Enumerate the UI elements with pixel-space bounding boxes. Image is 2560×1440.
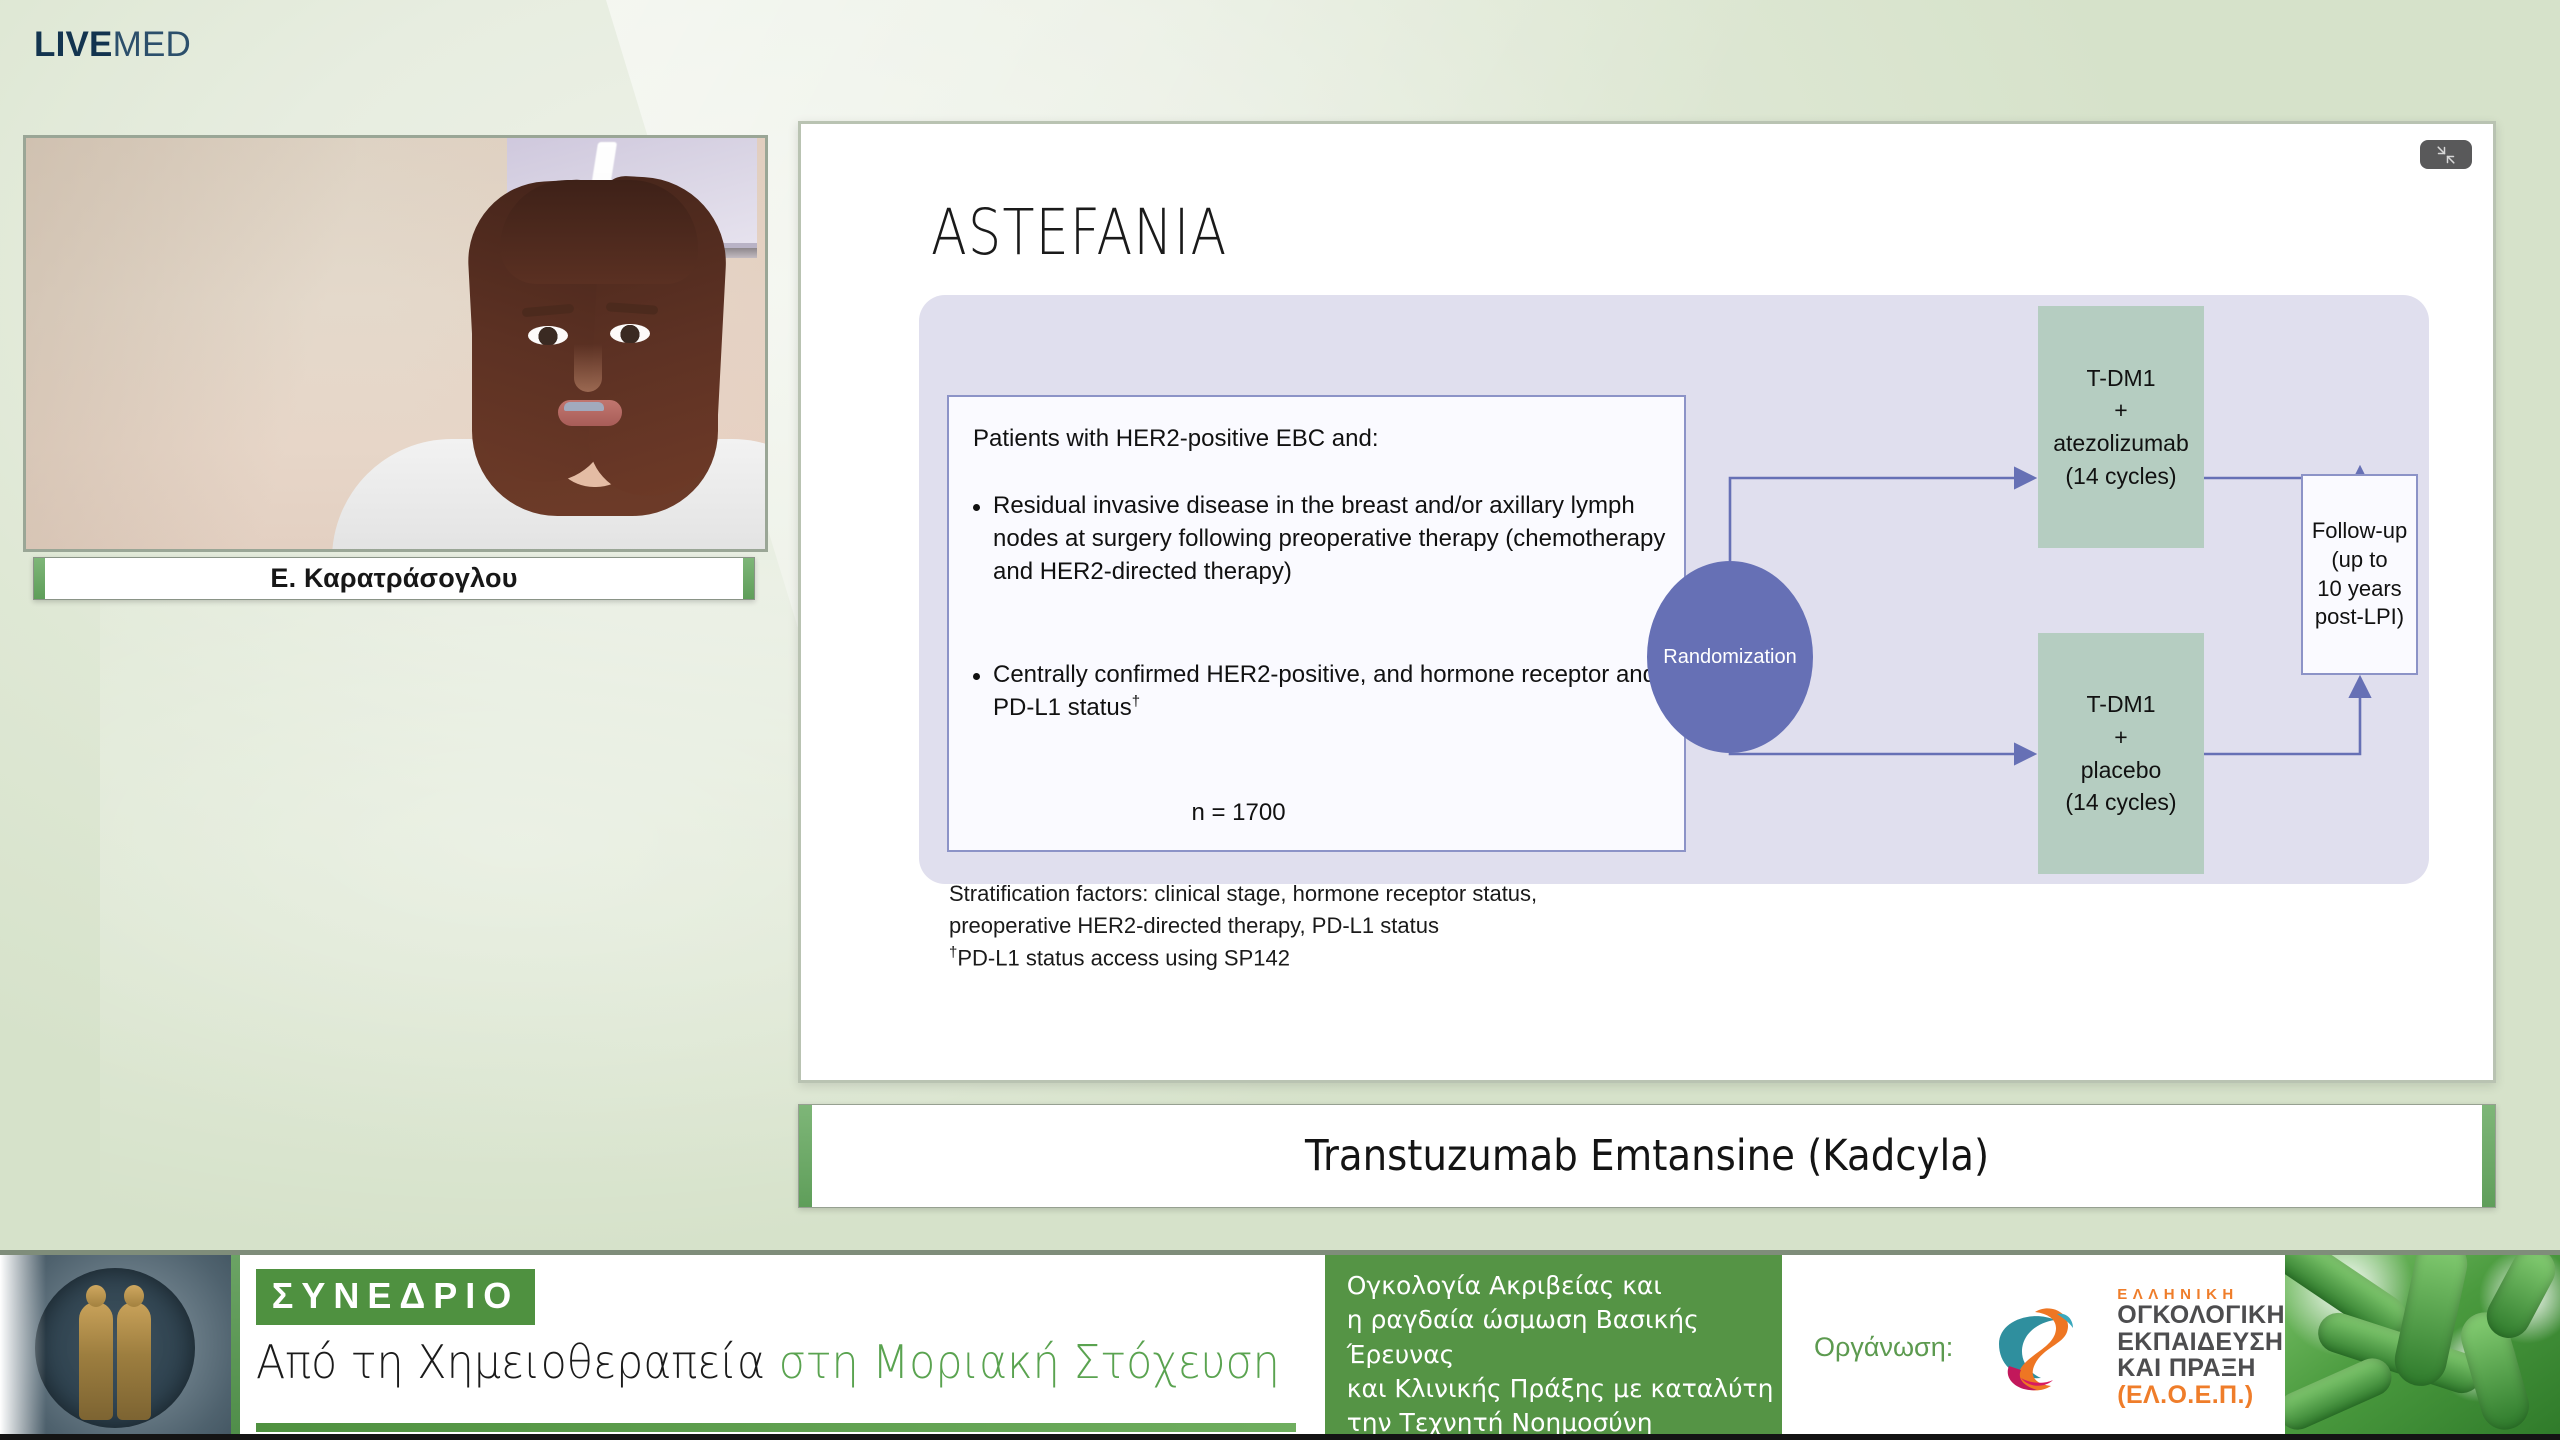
eloep-line-2: ΟΓΚΟΛΟΓΙΚΗ: [2117, 1302, 2285, 1329]
randomization-node: Randomization: [1647, 561, 1813, 753]
logo-live-text: LIVE: [34, 25, 113, 64]
sample-size-value: n = 1700: [1191, 799, 1285, 826]
app-header: LIVEMED: [0, 0, 2560, 96]
exit-fullscreen-icon: [2436, 145, 2456, 165]
banner-sculpture-image: [0, 1255, 231, 1440]
congress-underline: [256, 1423, 1296, 1432]
eloep-sphere-icon: [1979, 1292, 2091, 1404]
congress-title: Από τη Χημειοθεραπεία στη Μοριακή Στόχευ…: [256, 1335, 1250, 1389]
chromosome-shape: [2285, 1352, 2398, 1436]
conference-banner: ΣΥΝΕΔΡΙΟ Από τη Χημειοθεραπεία στη Μορια…: [0, 1250, 2560, 1440]
followup-line-2: (up to: [2331, 547, 2387, 574]
arm-1-line-4: (14 cycles): [2065, 462, 2176, 491]
screen-bottom-edge: [0, 1434, 2560, 1440]
sculpture-fade: [0, 1255, 46, 1440]
livemed-logo[interactable]: LIVEMED: [34, 25, 191, 65]
eloep-line-4: ΚΑΙ ΠΡΑΞΗ: [2117, 1355, 2285, 1382]
criteria-bullet-2-body: Centrally confirmed HER2-positive, and h…: [993, 661, 1656, 721]
footnote-line-3: †PD-L1 status access using SP142: [949, 942, 1709, 974]
criteria-bullet-1: Residual invasive disease in the breast …: [973, 490, 1673, 589]
congress-badge: ΣΥΝΕΔΡΙΟ: [256, 1269, 536, 1325]
sculpture-figure-left: [79, 1302, 113, 1420]
eloep-line-3: ΕΚΠΑΙΔΕΥΣΗ: [2117, 1329, 2285, 1356]
banner-theme-block: Ογκολογία Ακριβείας και η ραγδαία ώσμωση…: [1325, 1255, 1782, 1440]
bullet-dot-icon: [973, 504, 980, 511]
criteria-bullet-2-text: Centrally confirmed HER2-positive, and h…: [993, 659, 1673, 725]
slide-title: ASTEFANIA: [931, 196, 1228, 269]
eloep-line-1: ΕΛΛΗΝΙΚΗ: [2117, 1287, 2285, 1303]
theme-line-1: Ογκολογία Ακριβείας και: [1347, 1269, 1782, 1303]
banner-green-divider: [231, 1255, 240, 1440]
speaker-nameplate: Ε. Καρατράσογλου: [33, 557, 755, 600]
banner-microscopy-image: [2285, 1255, 2560, 1440]
caption-text: Transtuzumab Emtansine (Kadcyla): [1305, 1131, 1989, 1181]
arm-2-line-4: (14 cycles): [2065, 788, 2176, 817]
trial-design-diagram: Patients with HER2-positive EBC and: Res…: [919, 295, 2429, 884]
wall-shadow-left: [26, 138, 356, 549]
randomization-label: Randomization: [1663, 646, 1796, 669]
slide-caption-bar: Transtuzumab Emtansine (Kadcyla): [798, 1104, 2496, 1208]
treatment-arm-2: T-DM1 + placebo (14 cycles): [2038, 633, 2204, 874]
sculpture-figure-right: [117, 1302, 151, 1420]
arm-2-line-3: placebo: [2081, 756, 2162, 785]
treatment-arm-1: T-DM1 + atezolizumab (14 cycles): [2038, 306, 2204, 548]
presenter-eye-right: [610, 324, 650, 343]
logo-med-text: MED: [113, 25, 191, 64]
followup-line-1: Follow-up: [2312, 518, 2407, 545]
eloep-line-5: (ΕΛ.Ο.Ε.Π.): [2117, 1382, 2285, 1409]
presenter-teeth: [564, 402, 604, 411]
presenter-figure: [354, 138, 766, 549]
presenter-video-tile[interactable]: [23, 135, 768, 552]
followup-box: Follow-up (up to 10 years post-LPI): [2301, 474, 2418, 675]
slide-panel[interactable]: ASTEFANIA Patien: [798, 121, 2496, 1083]
arm-1-line-3: atezolizumab: [2053, 429, 2189, 458]
arm-1-line-2: +: [2114, 396, 2127, 425]
banner-congress-block: ΣΥΝΕΔΡΙΟ Από τη Χημειοθεραπεία στη Μορια…: [240, 1255, 1325, 1440]
presenter-fringe: [500, 180, 698, 284]
organizer-label: Οργάνωση:: [1814, 1332, 1953, 1363]
theme-line-3: και Κλινικής Πράξης με καταλύτη: [1347, 1372, 1782, 1406]
congress-title-part-4: Μοριακή Στόχευση: [872, 1335, 1279, 1389]
criteria-bullet-1-text: Residual invasive disease in the breast …: [993, 490, 1673, 589]
footnote-line-2: preoperative HER2-directed therapy, PD-L…: [949, 910, 1709, 942]
footnote-line-3-body: PD-L1 status access using SP142: [957, 945, 1290, 970]
banner-organizer-block: Οργάνωση: ΕΛΛΗΝΙΚΗ ΟΓΚΟΛΟΓΙΚΗ ΕΚΠΑΙΔΕΥΣΗ…: [1782, 1255, 2285, 1440]
footnote-line-1: Stratification factors: clinical stage, …: [949, 878, 1709, 910]
exit-fullscreen-button[interactable]: [2420, 140, 2472, 169]
arm-2-line-1: T-DM1: [2087, 690, 2156, 719]
criteria-intro-text: Patients with HER2-positive EBC and:: [973, 425, 1379, 453]
bullet-dot-icon: [973, 673, 980, 680]
congress-title-part-3: στη: [778, 1335, 872, 1389]
arm-1-line-1: T-DM1: [2087, 364, 2156, 393]
diagram-footnotes: Stratification factors: clinical stage, …: [949, 878, 1709, 974]
sample-size-label: n = 1700: [949, 799, 1684, 827]
eloep-logo-text: ΕΛΛΗΝΙΚΗ ΟΓΚΟΛΟΓΙΚΗ ΕΚΠΑΙΔΕΥΣΗ ΚΑΙ ΠΡΑΞΗ…: [2117, 1287, 2285, 1409]
eligibility-criteria-box: Patients with HER2-positive EBC and: Res…: [947, 395, 1686, 852]
eloep-logo-icon: [1979, 1292, 2091, 1404]
presenter-nose: [574, 344, 602, 392]
congress-title-part-2: Χημειοθεραπεία: [417, 1335, 778, 1389]
speaker-name-label: Ε. Καρατράσογλου: [270, 563, 517, 594]
followup-line-4: post-LPI): [2315, 604, 2404, 631]
followup-line-3: 10 years: [2317, 576, 2401, 603]
congress-title-part-1: Από τη: [256, 1335, 417, 1389]
criteria-bullet-2-dagger: †: [1132, 693, 1140, 710]
arm-2-line-2: +: [2114, 723, 2127, 752]
sculpture-niche: [35, 1268, 195, 1428]
video-frame: [26, 138, 765, 549]
criteria-bullet-2: Centrally confirmed HER2-positive, and h…: [973, 659, 1673, 725]
theme-line-2: η ραγδαία ώσμωση Βασικής Έρευνας: [1347, 1303, 1782, 1372]
presenter-eye-left: [528, 326, 568, 345]
